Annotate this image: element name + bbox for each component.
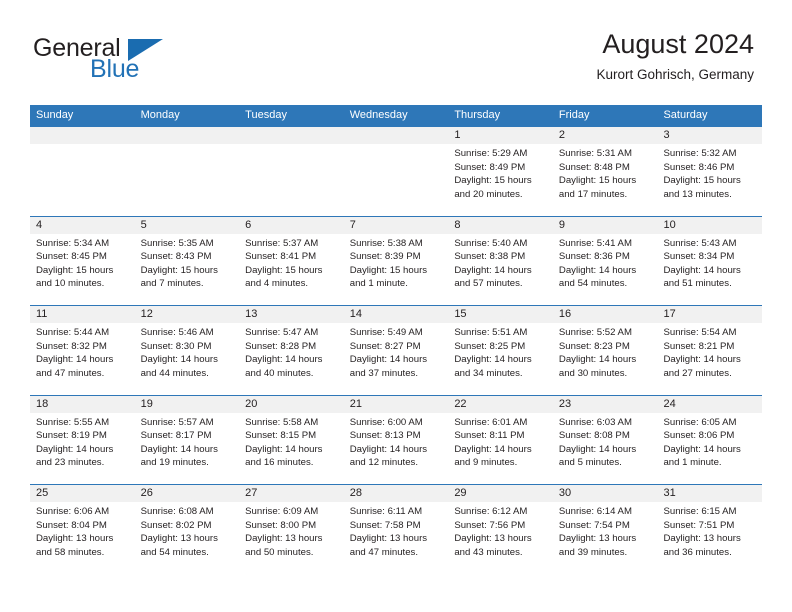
sunrise-text: Sunrise: 6:01 AM (454, 416, 547, 430)
day-cell[interactable]: 21 Sunrise: 6:00 AM Sunset: 8:13 PM Dayl… (344, 396, 449, 485)
daylight-text-line2: and 4 minutes. (245, 277, 338, 291)
daylight-text-line1: Daylight: 14 hours (454, 353, 547, 367)
daylight-text-line1: Daylight: 14 hours (663, 353, 756, 367)
sunset-text: Sunset: 8:38 PM (454, 250, 547, 264)
sunset-text: Sunset: 8:08 PM (559, 429, 652, 443)
daylight-text-line1: Daylight: 13 hours (141, 532, 234, 546)
logo-text-blue: Blue (90, 55, 139, 84)
day-details: Sunrise: 5:29 AM Sunset: 8:49 PM Dayligh… (448, 144, 553, 201)
day-number (344, 127, 449, 144)
day-details: Sunrise: 6:08 AM Sunset: 8:02 PM Dayligh… (135, 502, 240, 559)
day-number: 24 (657, 396, 762, 413)
daylight-text-line2: and 5 minutes. (559, 456, 652, 470)
weekday-header-monday: Monday (135, 105, 240, 126)
sunset-text: Sunset: 8:45 PM (36, 250, 129, 264)
sunrise-text: Sunrise: 5:54 AM (663, 326, 756, 340)
sunset-text: Sunset: 8:49 PM (454, 161, 547, 175)
daylight-text-line2: and 58 minutes. (36, 546, 129, 560)
day-number: 21 (344, 396, 449, 413)
sunset-text: Sunset: 8:25 PM (454, 340, 547, 354)
day-cell[interactable]: 8 Sunrise: 5:40 AM Sunset: 8:38 PM Dayli… (448, 217, 553, 306)
sunset-text: Sunset: 8:27 PM (350, 340, 443, 354)
sunrise-text: Sunrise: 5:31 AM (559, 147, 652, 161)
day-details: Sunrise: 6:09 AM Sunset: 8:00 PM Dayligh… (239, 502, 344, 559)
daylight-text-line1: Daylight: 14 hours (350, 353, 443, 367)
daylight-text-line2: and 7 minutes. (141, 277, 234, 291)
day-details: Sunrise: 5:58 AM Sunset: 8:15 PM Dayligh… (239, 413, 344, 470)
sunrise-text: Sunrise: 6:12 AM (454, 505, 547, 519)
sunrise-text: Sunrise: 6:09 AM (245, 505, 338, 519)
sunrise-text: Sunrise: 5:32 AM (663, 147, 756, 161)
day-cell[interactable]: 9 Sunrise: 5:41 AM Sunset: 8:36 PM Dayli… (553, 217, 658, 306)
daylight-text-line1: Daylight: 14 hours (245, 443, 338, 457)
week-row: 18 Sunrise: 5:55 AM Sunset: 8:19 PM Dayl… (30, 395, 762, 485)
day-number: 22 (448, 396, 553, 413)
day-cell[interactable]: 7 Sunrise: 5:38 AM Sunset: 8:39 PM Dayli… (344, 217, 449, 306)
sunset-text: Sunset: 8:46 PM (663, 161, 756, 175)
day-details: Sunrise: 6:14 AM Sunset: 7:54 PM Dayligh… (553, 502, 658, 559)
daylight-text-line1: Daylight: 14 hours (454, 443, 547, 457)
day-cell[interactable]: 13 Sunrise: 5:47 AM Sunset: 8:28 PM Dayl… (239, 306, 344, 395)
sunset-text: Sunset: 8:41 PM (245, 250, 338, 264)
day-number: 26 (135, 485, 240, 502)
sunset-text: Sunset: 8:21 PM (663, 340, 756, 354)
daylight-text-line2: and 39 minutes. (559, 546, 652, 560)
week-row: 4 Sunrise: 5:34 AM Sunset: 8:45 PM Dayli… (30, 216, 762, 306)
sunset-text: Sunset: 8:04 PM (36, 519, 129, 533)
day-cell[interactable]: 22 Sunrise: 6:01 AM Sunset: 8:11 PM Dayl… (448, 396, 553, 485)
sunset-text: Sunset: 8:02 PM (141, 519, 234, 533)
sunset-text: Sunset: 8:17 PM (141, 429, 234, 443)
sunset-text: Sunset: 8:32 PM (36, 340, 129, 354)
daylight-text-line2: and 20 minutes. (454, 188, 547, 202)
calendar-page: General Blue August 2024 Kurort Gohrisch… (0, 0, 792, 612)
sunset-text: Sunset: 8:23 PM (559, 340, 652, 354)
day-number: 20 (239, 396, 344, 413)
daylight-text-line2: and 17 minutes. (559, 188, 652, 202)
sunrise-text: Sunrise: 5:46 AM (141, 326, 234, 340)
day-cell[interactable]: 29 Sunrise: 6:12 AM Sunset: 7:56 PM Dayl… (448, 485, 553, 574)
daylight-text-line1: Daylight: 15 hours (245, 264, 338, 278)
weekday-header-sunday: Sunday (30, 105, 135, 126)
day-details: Sunrise: 5:51 AM Sunset: 8:25 PM Dayligh… (448, 323, 553, 380)
daylight-text-line2: and 37 minutes. (350, 367, 443, 381)
week-row: 11 Sunrise: 5:44 AM Sunset: 8:32 PM Dayl… (30, 305, 762, 395)
sunrise-text: Sunrise: 5:47 AM (245, 326, 338, 340)
day-details: Sunrise: 5:52 AM Sunset: 8:23 PM Dayligh… (553, 323, 658, 380)
daylight-text-line1: Daylight: 15 hours (350, 264, 443, 278)
day-details: Sunrise: 5:43 AM Sunset: 8:34 PM Dayligh… (657, 234, 762, 291)
sunrise-text: Sunrise: 6:05 AM (663, 416, 756, 430)
day-number (135, 127, 240, 144)
day-number: 23 (553, 396, 658, 413)
day-details (239, 144, 344, 147)
daylight-text-line1: Daylight: 13 hours (36, 532, 129, 546)
day-details: Sunrise: 5:34 AM Sunset: 8:45 PM Dayligh… (30, 234, 135, 291)
day-details (135, 144, 240, 147)
week-row: 25 Sunrise: 6:06 AM Sunset: 8:04 PM Dayl… (30, 484, 762, 574)
day-number: 29 (448, 485, 553, 502)
sunset-text: Sunset: 8:15 PM (245, 429, 338, 443)
sunrise-text: Sunrise: 5:40 AM (454, 237, 547, 251)
sunrise-text: Sunrise: 5:35 AM (141, 237, 234, 251)
daylight-text-line1: Daylight: 15 hours (663, 174, 756, 188)
sunset-text: Sunset: 7:58 PM (350, 519, 443, 533)
daylight-text-line2: and 47 minutes. (350, 546, 443, 560)
day-number: 6 (239, 217, 344, 234)
day-details: Sunrise: 6:00 AM Sunset: 8:13 PM Dayligh… (344, 413, 449, 470)
day-details: Sunrise: 6:11 AM Sunset: 7:58 PM Dayligh… (344, 502, 449, 559)
day-number: 5 (135, 217, 240, 234)
day-details: Sunrise: 6:06 AM Sunset: 8:04 PM Dayligh… (30, 502, 135, 559)
day-number: 15 (448, 306, 553, 323)
day-cell[interactable] (135, 127, 240, 216)
sunset-text: Sunset: 8:48 PM (559, 161, 652, 175)
day-number: 12 (135, 306, 240, 323)
day-details: Sunrise: 6:12 AM Sunset: 7:56 PM Dayligh… (448, 502, 553, 559)
sunset-text: Sunset: 8:00 PM (245, 519, 338, 533)
sunrise-text: Sunrise: 5:29 AM (454, 147, 547, 161)
sunset-text: Sunset: 8:06 PM (663, 429, 756, 443)
day-number: 7 (344, 217, 449, 234)
title-block: August 2024 Kurort Gohrisch, Germany (596, 28, 754, 85)
sunset-text: Sunset: 8:28 PM (245, 340, 338, 354)
page-header: General Blue August 2024 Kurort Gohrisch… (0, 0, 792, 104)
day-cell[interactable]: 10 Sunrise: 5:43 AM Sunset: 8:34 PM Dayl… (657, 217, 762, 306)
daylight-text-line1: Daylight: 14 hours (559, 264, 652, 278)
day-cell[interactable]: 17 Sunrise: 5:54 AM Sunset: 8:21 PM Dayl… (657, 306, 762, 395)
daylight-text-line1: Daylight: 14 hours (141, 443, 234, 457)
sunset-text: Sunset: 8:19 PM (36, 429, 129, 443)
sunrise-text: Sunrise: 6:06 AM (36, 505, 129, 519)
sunrise-text: Sunrise: 5:38 AM (350, 237, 443, 251)
day-details: Sunrise: 5:31 AM Sunset: 8:48 PM Dayligh… (553, 144, 658, 201)
daylight-text-line2: and 1 minute. (663, 456, 756, 470)
daylight-text-line2: and 36 minutes. (663, 546, 756, 560)
daylight-text-line1: Daylight: 14 hours (663, 443, 756, 457)
daylight-text-line1: Daylight: 14 hours (36, 443, 129, 457)
daylight-text-line2: and 19 minutes. (141, 456, 234, 470)
day-cell[interactable] (344, 127, 449, 216)
weekday-header-friday: Friday (553, 105, 658, 126)
daylight-text-line1: Daylight: 13 hours (559, 532, 652, 546)
weekday-header-tuesday: Tuesday (239, 105, 344, 126)
day-number: 16 (553, 306, 658, 323)
daylight-text-line2: and 23 minutes. (36, 456, 129, 470)
day-details: Sunrise: 5:32 AM Sunset: 8:46 PM Dayligh… (657, 144, 762, 201)
sunrise-text: Sunrise: 5:49 AM (350, 326, 443, 340)
day-number: 8 (448, 217, 553, 234)
day-details: Sunrise: 5:40 AM Sunset: 8:38 PM Dayligh… (448, 234, 553, 291)
sunrise-text: Sunrise: 5:41 AM (559, 237, 652, 251)
day-details (30, 144, 135, 147)
day-number: 13 (239, 306, 344, 323)
daylight-text-line1: Daylight: 14 hours (141, 353, 234, 367)
daylight-text-line2: and 34 minutes. (454, 367, 547, 381)
page-title: August 2024 (596, 28, 754, 61)
sunrise-text: Sunrise: 6:15 AM (663, 505, 756, 519)
sunset-text: Sunset: 8:36 PM (559, 250, 652, 264)
sunrise-text: Sunrise: 6:03 AM (559, 416, 652, 430)
day-details: Sunrise: 5:38 AM Sunset: 8:39 PM Dayligh… (344, 234, 449, 291)
day-cell[interactable]: 18 Sunrise: 5:55 AM Sunset: 8:19 PM Dayl… (30, 396, 135, 485)
daylight-text-line2: and 27 minutes. (663, 367, 756, 381)
day-cell[interactable]: 23 Sunrise: 6:03 AM Sunset: 8:08 PM Dayl… (553, 396, 658, 485)
daylight-text-line1: Daylight: 14 hours (454, 264, 547, 278)
day-details: Sunrise: 5:54 AM Sunset: 8:21 PM Dayligh… (657, 323, 762, 380)
day-number: 30 (553, 485, 658, 502)
sunset-text: Sunset: 8:30 PM (141, 340, 234, 354)
day-cell[interactable]: 6 Sunrise: 5:37 AM Sunset: 8:41 PM Dayli… (239, 217, 344, 306)
day-number: 17 (657, 306, 762, 323)
sunset-text: Sunset: 8:43 PM (141, 250, 234, 264)
sunrise-text: Sunrise: 5:55 AM (36, 416, 129, 430)
daylight-text-line1: Daylight: 13 hours (245, 532, 338, 546)
day-cell[interactable]: 28 Sunrise: 6:11 AM Sunset: 7:58 PM Dayl… (344, 485, 449, 574)
daylight-text-line1: Daylight: 14 hours (559, 353, 652, 367)
general-blue-logo: General Blue (33, 34, 263, 86)
day-cell[interactable]: 1 Sunrise: 5:29 AM Sunset: 8:49 PM Dayli… (448, 127, 553, 216)
day-cell[interactable]: 3 Sunrise: 5:32 AM Sunset: 8:46 PM Dayli… (657, 127, 762, 216)
daylight-text-line1: Daylight: 14 hours (245, 353, 338, 367)
sunset-text: Sunset: 8:11 PM (454, 429, 547, 443)
daylight-text-line2: and 57 minutes. (454, 277, 547, 291)
day-cell[interactable]: 31 Sunrise: 6:15 AM Sunset: 7:51 PM Dayl… (657, 485, 762, 574)
daylight-text-line1: Daylight: 15 hours (559, 174, 652, 188)
day-details (344, 144, 449, 147)
sunset-text: Sunset: 7:51 PM (663, 519, 756, 533)
day-details: Sunrise: 6:05 AM Sunset: 8:06 PM Dayligh… (657, 413, 762, 470)
day-number: 18 (30, 396, 135, 413)
daylight-text-line2: and 54 minutes. (141, 546, 234, 560)
day-details: Sunrise: 5:37 AM Sunset: 8:41 PM Dayligh… (239, 234, 344, 291)
daylight-text-line2: and 51 minutes. (663, 277, 756, 291)
day-cell[interactable]: 11 Sunrise: 5:44 AM Sunset: 8:32 PM Dayl… (30, 306, 135, 395)
daylight-text-line2: and 13 minutes. (663, 188, 756, 202)
day-cell[interactable]: 25 Sunrise: 6:06 AM Sunset: 8:04 PM Dayl… (30, 485, 135, 574)
sunrise-text: Sunrise: 5:34 AM (36, 237, 129, 251)
sunrise-text: Sunrise: 5:52 AM (559, 326, 652, 340)
sunrise-text: Sunrise: 5:37 AM (245, 237, 338, 251)
day-details: Sunrise: 5:55 AM Sunset: 8:19 PM Dayligh… (30, 413, 135, 470)
day-details: Sunrise: 6:01 AM Sunset: 8:11 PM Dayligh… (448, 413, 553, 470)
day-details: Sunrise: 5:46 AM Sunset: 8:30 PM Dayligh… (135, 323, 240, 380)
day-number: 27 (239, 485, 344, 502)
day-number: 11 (30, 306, 135, 323)
calendar-grid: Sunday Monday Tuesday Wednesday Thursday… (30, 105, 762, 574)
sunset-text: Sunset: 8:34 PM (663, 250, 756, 264)
day-number (30, 127, 135, 144)
daylight-text-line2: and 43 minutes. (454, 546, 547, 560)
daylight-text-line1: Daylight: 15 hours (141, 264, 234, 278)
sunrise-text: Sunrise: 5:57 AM (141, 416, 234, 430)
daylight-text-line1: Daylight: 14 hours (663, 264, 756, 278)
weekday-header-thursday: Thursday (448, 105, 553, 126)
daylight-text-line2: and 16 minutes. (245, 456, 338, 470)
sunset-text: Sunset: 7:54 PM (559, 519, 652, 533)
day-cell[interactable]: 12 Sunrise: 5:46 AM Sunset: 8:30 PM Dayl… (135, 306, 240, 395)
daylight-text-line2: and 54 minutes. (559, 277, 652, 291)
day-cell[interactable]: 16 Sunrise: 5:52 AM Sunset: 8:23 PM Dayl… (553, 306, 658, 395)
day-cell[interactable]: 27 Sunrise: 6:09 AM Sunset: 8:00 PM Dayl… (239, 485, 344, 574)
sunrise-text: Sunrise: 6:00 AM (350, 416, 443, 430)
day-number: 19 (135, 396, 240, 413)
sunset-text: Sunset: 8:39 PM (350, 250, 443, 264)
daylight-text-line2: and 47 minutes. (36, 367, 129, 381)
day-details: Sunrise: 5:57 AM Sunset: 8:17 PM Dayligh… (135, 413, 240, 470)
week-row: 1 Sunrise: 5:29 AM Sunset: 8:49 PM Dayli… (30, 126, 762, 216)
day-details: Sunrise: 5:41 AM Sunset: 8:36 PM Dayligh… (553, 234, 658, 291)
day-number: 9 (553, 217, 658, 234)
day-number: 3 (657, 127, 762, 144)
daylight-text-line2: and 10 minutes. (36, 277, 129, 291)
weekday-header-row: Sunday Monday Tuesday Wednesday Thursday… (30, 105, 762, 126)
day-details: Sunrise: 5:35 AM Sunset: 8:43 PM Dayligh… (135, 234, 240, 291)
day-number: 10 (657, 217, 762, 234)
day-details: Sunrise: 5:49 AM Sunset: 8:27 PM Dayligh… (344, 323, 449, 380)
daylight-text-line1: Daylight: 13 hours (454, 532, 547, 546)
sunrise-text: Sunrise: 6:08 AM (141, 505, 234, 519)
sunrise-text: Sunrise: 5:44 AM (36, 326, 129, 340)
daylight-text-line1: Daylight: 14 hours (559, 443, 652, 457)
daylight-text-line2: and 30 minutes. (559, 367, 652, 381)
daylight-text-line1: Daylight: 15 hours (454, 174, 547, 188)
day-cell[interactable]: 2 Sunrise: 5:31 AM Sunset: 8:48 PM Dayli… (553, 127, 658, 216)
day-number: 1 (448, 127, 553, 144)
page-subtitle: Kurort Gohrisch, Germany (596, 65, 754, 85)
day-number (239, 127, 344, 144)
day-cell[interactable]: 26 Sunrise: 6:08 AM Sunset: 8:02 PM Dayl… (135, 485, 240, 574)
day-cell[interactable]: 20 Sunrise: 5:58 AM Sunset: 8:15 PM Dayl… (239, 396, 344, 485)
sunrise-text: Sunrise: 5:58 AM (245, 416, 338, 430)
sunset-text: Sunset: 7:56 PM (454, 519, 547, 533)
sunrise-text: Sunrise: 5:51 AM (454, 326, 547, 340)
day-cell[interactable]: 15 Sunrise: 5:51 AM Sunset: 8:25 PM Dayl… (448, 306, 553, 395)
day-details: Sunrise: 6:03 AM Sunset: 8:08 PM Dayligh… (553, 413, 658, 470)
weekday-header-saturday: Saturday (657, 105, 762, 126)
day-cell[interactable] (239, 127, 344, 216)
day-cell[interactable]: 5 Sunrise: 5:35 AM Sunset: 8:43 PM Dayli… (135, 217, 240, 306)
daylight-text-line2: and 12 minutes. (350, 456, 443, 470)
daylight-text-line2: and 50 minutes. (245, 546, 338, 560)
day-number: 28 (344, 485, 449, 502)
day-cell[interactable]: 4 Sunrise: 5:34 AM Sunset: 8:45 PM Dayli… (30, 217, 135, 306)
daylight-text-line1: Daylight: 14 hours (350, 443, 443, 457)
day-number: 31 (657, 485, 762, 502)
day-cell[interactable]: 24 Sunrise: 6:05 AM Sunset: 8:06 PM Dayl… (657, 396, 762, 485)
sunrise-text: Sunrise: 5:43 AM (663, 237, 756, 251)
day-number: 2 (553, 127, 658, 144)
day-cell[interactable]: 19 Sunrise: 5:57 AM Sunset: 8:17 PM Dayl… (135, 396, 240, 485)
day-details: Sunrise: 6:15 AM Sunset: 7:51 PM Dayligh… (657, 502, 762, 559)
sunset-text: Sunset: 8:13 PM (350, 429, 443, 443)
day-cell[interactable]: 14 Sunrise: 5:49 AM Sunset: 8:27 PM Dayl… (344, 306, 449, 395)
daylight-text-line2: and 44 minutes. (141, 367, 234, 381)
day-number: 4 (30, 217, 135, 234)
weekday-header-wednesday: Wednesday (344, 105, 449, 126)
daylight-text-line2: and 40 minutes. (245, 367, 338, 381)
daylight-text-line1: Daylight: 13 hours (663, 532, 756, 546)
day-details: Sunrise: 5:44 AM Sunset: 8:32 PM Dayligh… (30, 323, 135, 380)
day-cell[interactable]: 30 Sunrise: 6:14 AM Sunset: 7:54 PM Dayl… (553, 485, 658, 574)
day-number: 25 (30, 485, 135, 502)
sunrise-text: Sunrise: 6:11 AM (350, 505, 443, 519)
daylight-text-line1: Daylight: 13 hours (350, 532, 443, 546)
day-details: Sunrise: 5:47 AM Sunset: 8:28 PM Dayligh… (239, 323, 344, 380)
day-cell[interactable] (30, 127, 135, 216)
daylight-text-line2: and 1 minute. (350, 277, 443, 291)
sunrise-text: Sunrise: 6:14 AM (559, 505, 652, 519)
daylight-text-line1: Daylight: 15 hours (36, 264, 129, 278)
daylight-text-line2: and 9 minutes. (454, 456, 547, 470)
day-number: 14 (344, 306, 449, 323)
daylight-text-line1: Daylight: 14 hours (36, 353, 129, 367)
